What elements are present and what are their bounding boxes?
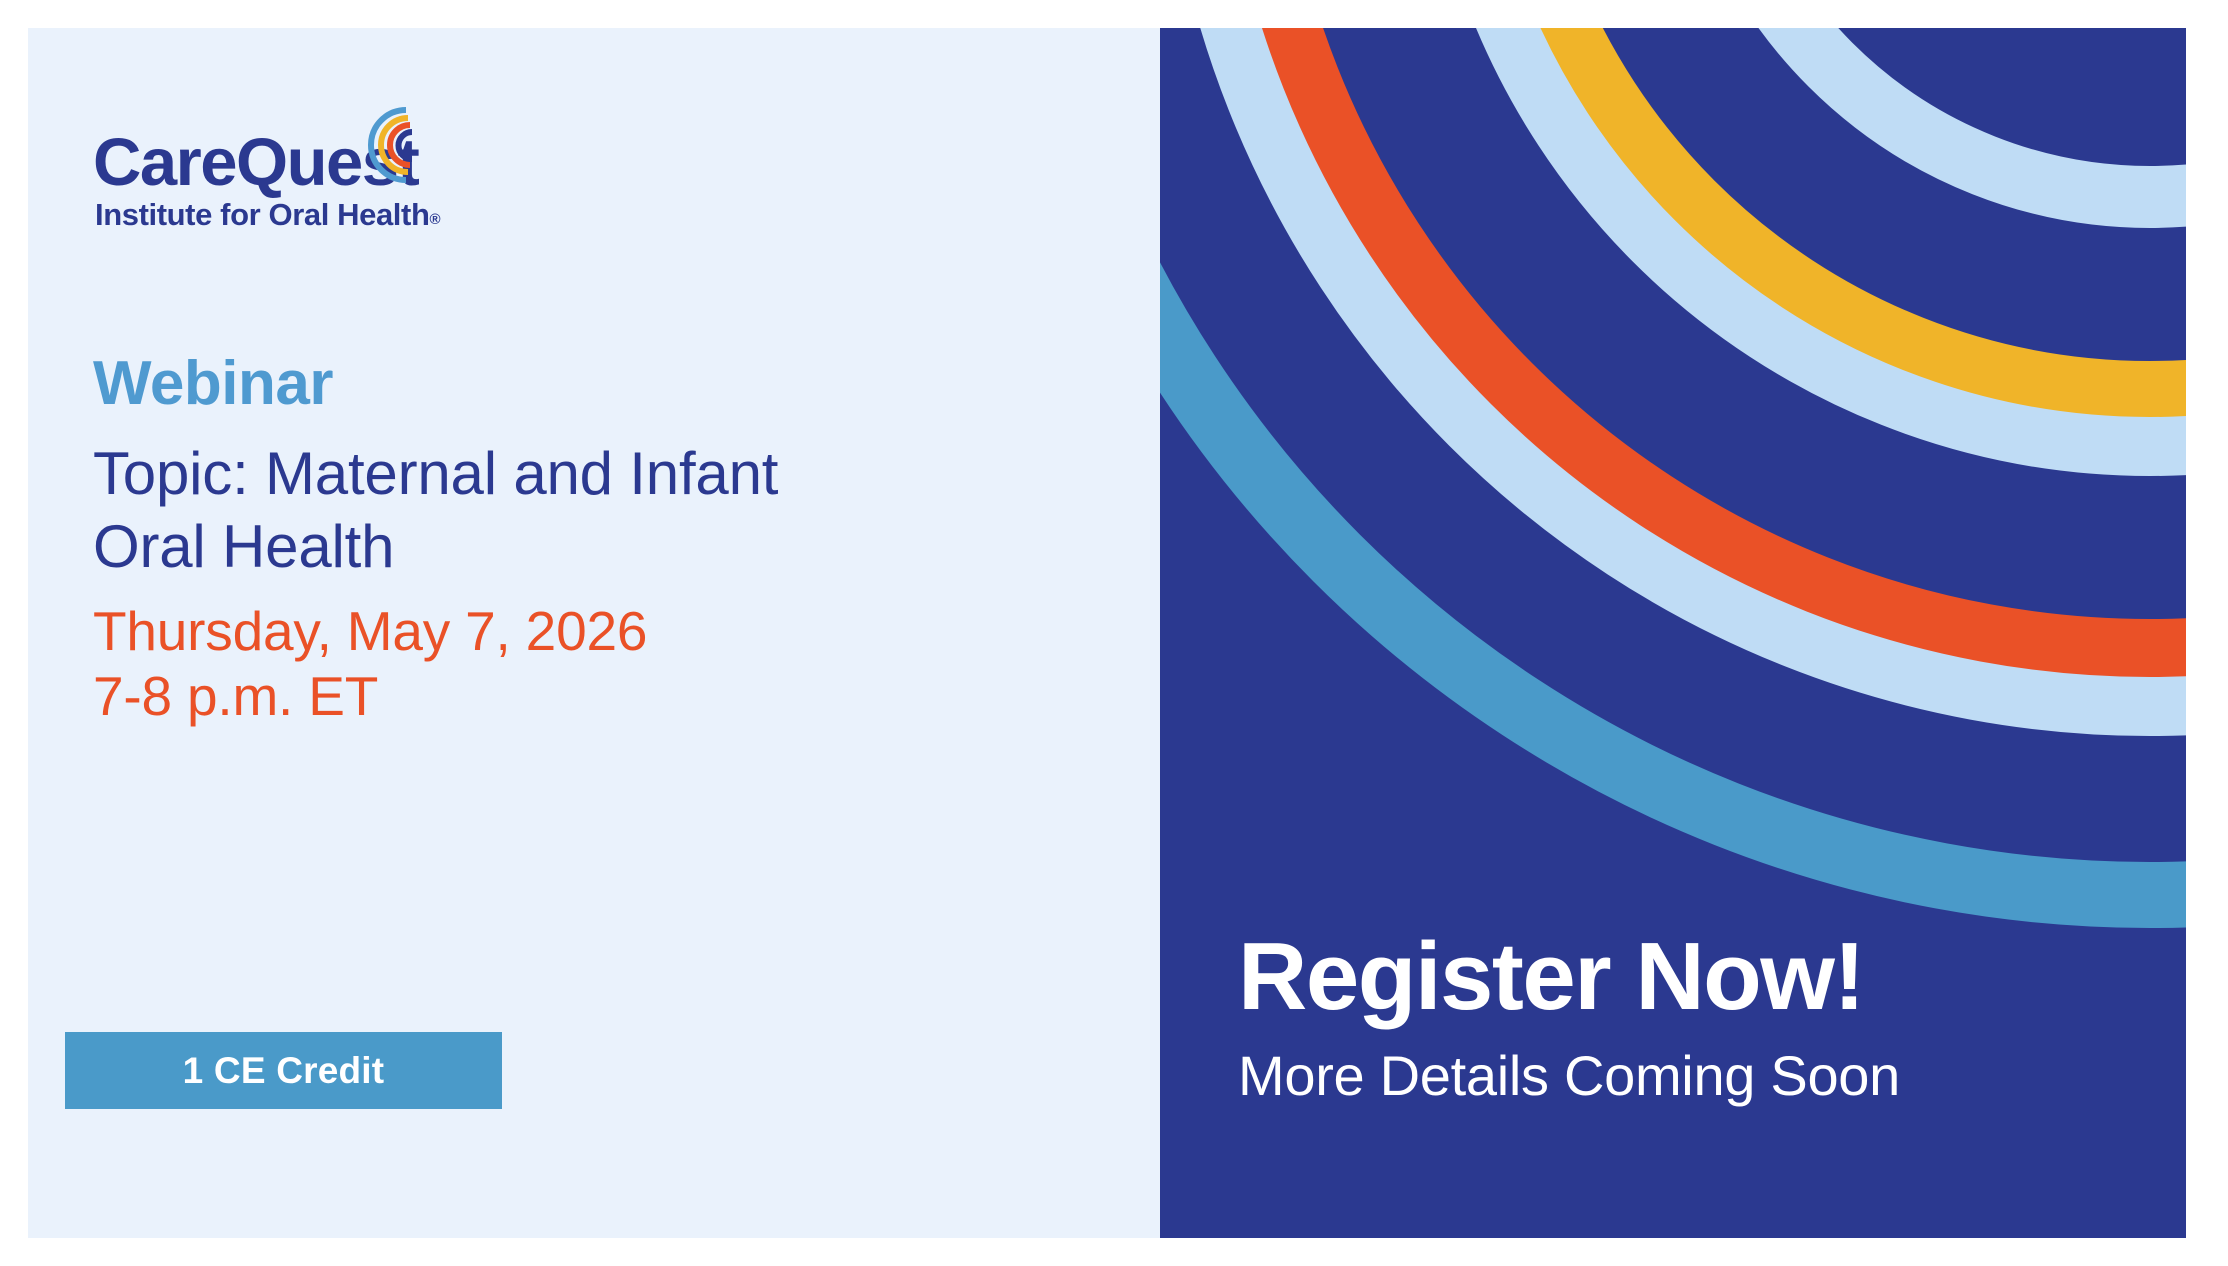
webinar-datetime: Thursday, May 7, 2026 7-8 p.m. ET <box>93 599 1093 729</box>
registered-trademark-icon: ® <box>429 211 440 228</box>
logo-tagline-row: Institute for Oral Health® <box>95 199 440 230</box>
carequest-c-mark-icon <box>348 101 436 189</box>
webinar-date: Thursday, May 7, 2026 <box>93 599 1093 664</box>
eyebrow-webinar: Webinar <box>93 353 1093 415</box>
webinar-copy-block: Webinar Topic: Maternal and Infant Oral … <box>93 353 1093 729</box>
topic-label: Topic: <box>93 440 249 507</box>
cta-headline: Register Now! <box>1238 929 2138 1025</box>
promo-canvas: CareQuest Institute for Oral Health® We <box>0 0 2228 1266</box>
logo-tagline: Institute for Oral Health <box>95 197 429 232</box>
left-info-panel: CareQuest Institute for Oral Health® We <box>28 28 1160 1238</box>
webinar-topic: Topic: Maternal and Infant Oral Health <box>93 437 793 583</box>
arc-light-blue-4 <box>1698 28 2186 197</box>
right-cta-panel: Register Now! More Details Coming Soon <box>1160 28 2186 1238</box>
ce-credit-label: 1 CE Credit <box>183 1052 385 1089</box>
cta-subhead: More Details Coming Soon <box>1238 1047 2138 1106</box>
cta-block: Register Now! More Details Coming Soon <box>1238 929 2138 1106</box>
carequest-logo: CareQuest Institute for Oral Health® <box>93 123 613 253</box>
ce-credit-badge[interactable]: 1 CE Credit <box>65 1032 502 1109</box>
webinar-time: 7-8 p.m. ET <box>93 664 1093 729</box>
